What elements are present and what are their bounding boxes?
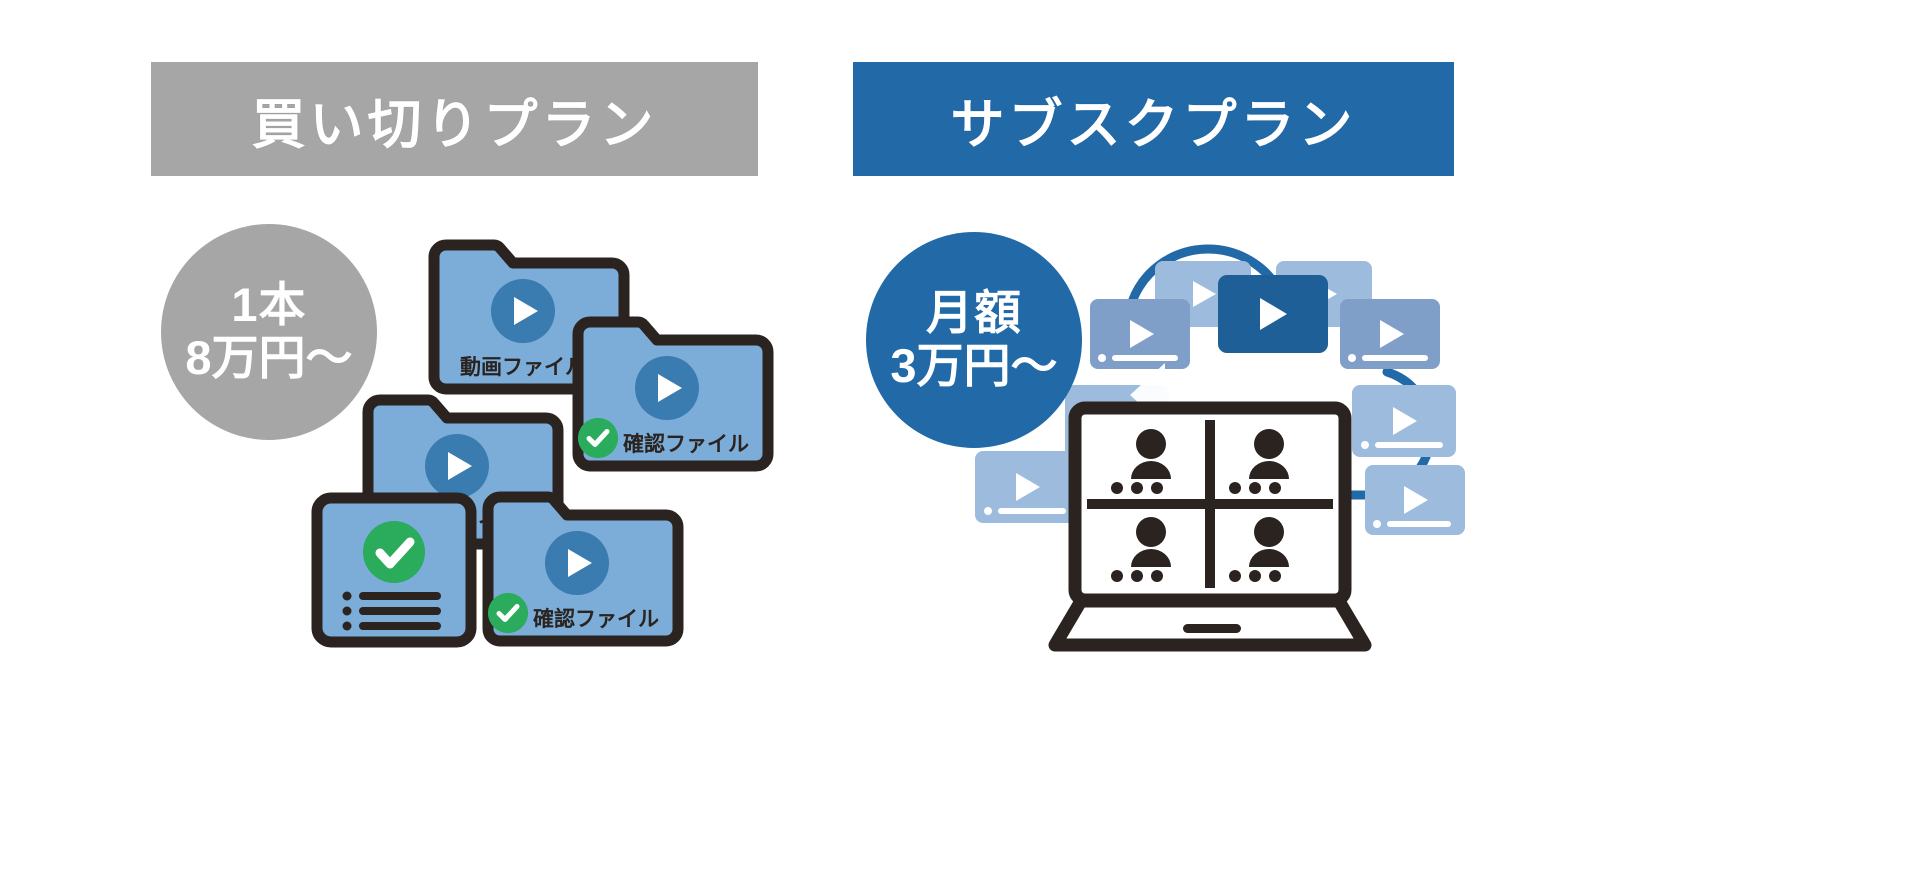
price-badge-purchase-line2: 8万円〜 — [185, 332, 352, 385]
illustration-canvas: 買い切りプラン 1本 8万円〜 動画ファイル 確 — [0, 0, 1922, 872]
panel-purchase: 買い切りプラン 1本 8万円〜 動画ファイル 確 — [0, 0, 961, 872]
play-icon — [635, 356, 699, 420]
folder-confirm-file-2[interactable]: 確認ファイル — [478, 487, 676, 647]
folder-confirm-file-1[interactable]: 確認ファイル — [568, 312, 766, 472]
banner-subscription-plan: サブスクプラン — [853, 62, 1454, 176]
price-badge-purchase-line1: 1本 — [231, 279, 306, 332]
price-badge-subscription-line1: 月額 — [926, 287, 1022, 340]
folder-confirm-file-2-label: 確認ファイル — [478, 603, 676, 633]
play-icon — [491, 279, 555, 343]
document-check-card[interactable] — [309, 490, 479, 650]
price-badge-purchase: 1本 8万円〜 — [161, 224, 377, 440]
banner-purchase-plan: 買い切りプラン — [151, 62, 758, 176]
price-badge-subscription-line2: 3万円〜 — [890, 340, 1057, 393]
play-icon — [545, 531, 609, 595]
laptop-videoconference-icon — [1045, 400, 1375, 670]
folder-confirm-file-1-label: 確認ファイル — [568, 428, 766, 458]
